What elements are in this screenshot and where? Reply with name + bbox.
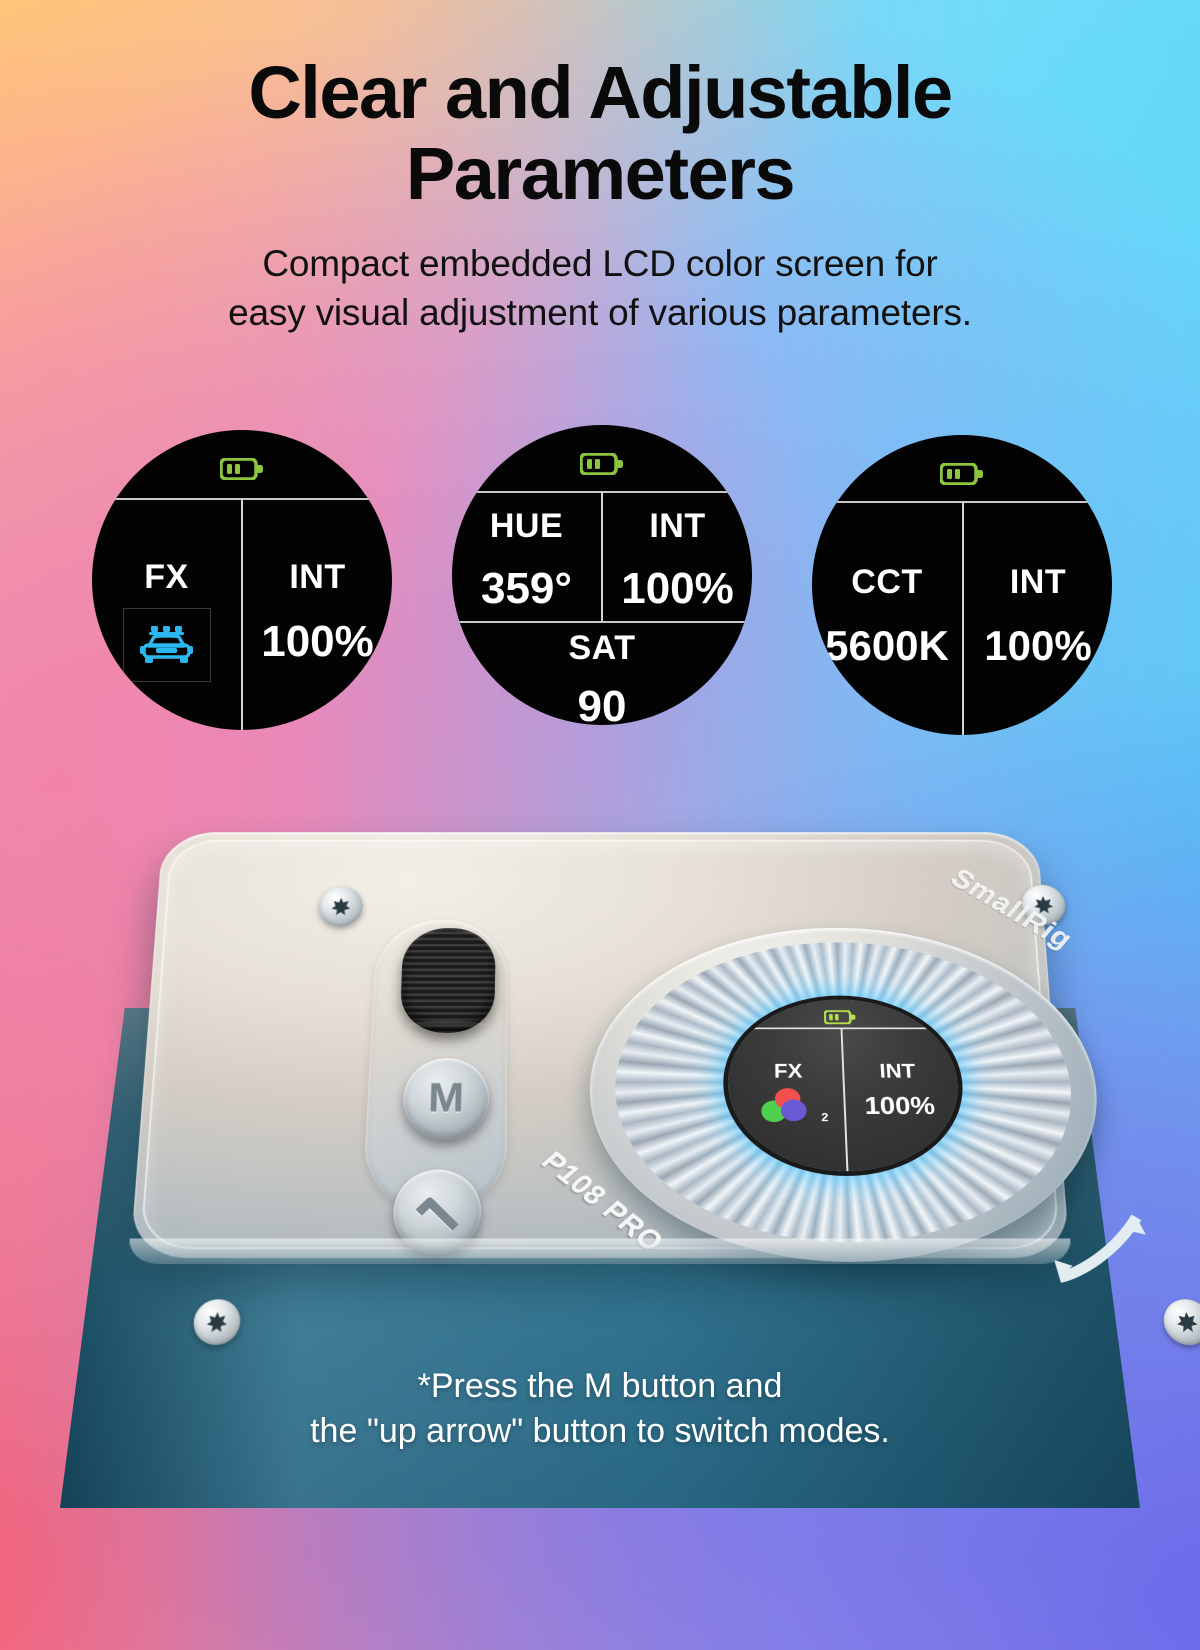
screen-hsi-hue-value: 359° — [452, 567, 601, 611]
screen-cct-left-label: CCT — [812, 565, 962, 599]
screen-preview-cct: CCT 5600K INT 100% — [812, 435, 1112, 735]
battery-icon — [824, 1010, 857, 1028]
footer-caption-line1: *Press the M button and — [0, 1364, 1200, 1409]
page-subtitle-line1: Compact embedded LCD color screen for — [0, 240, 1200, 289]
police-car-icon — [123, 608, 211, 682]
screen-preview-fx: FX INT 100% — [92, 430, 392, 730]
page-title-line1: Clear and Adjustable — [0, 53, 1200, 134]
screen-cct-right-value: 100% — [964, 625, 1112, 667]
device-screen-int-label: INT — [844, 1061, 952, 1081]
screw-top-left — [318, 887, 363, 927]
device-top-plate: M FX — [130, 832, 1070, 1258]
rotation-arrow-icon — [1044, 1202, 1172, 1300]
scroll-dial[interactable] — [400, 928, 496, 1033]
screen-hsi-int-value: 100% — [603, 567, 752, 611]
header-block: Clear and Adjustable Parameters Compact … — [0, 0, 1200, 338]
footer-caption: *Press the M button and the "up arrow" b… — [0, 1364, 1200, 1454]
rgb-circles-icon: 2 — [761, 1088, 817, 1124]
page-subtitle: Compact embedded LCD color screen for ea… — [0, 214, 1200, 338]
screen-fx-right-label: INT — [243, 560, 392, 594]
screw-bottom-right — [1162, 1299, 1200, 1345]
screen-hsi-sat-label: SAT — [452, 631, 752, 665]
screen-examples-row: FX INT 100% — [0, 418, 1200, 748]
device-screen-int-value: 100% — [845, 1093, 955, 1118]
screen-cct-left-value: 5600K — [812, 625, 962, 667]
up-arrow-button[interactable] — [392, 1170, 482, 1254]
screen-hsi-int-label: INT — [603, 509, 752, 543]
page-title-line2: Parameters — [0, 134, 1200, 215]
chevron-up-icon — [416, 1196, 459, 1238]
battery-icon — [580, 453, 624, 475]
screen-fx-left-label: FX — [92, 560, 241, 594]
page-subtitle-line2: easy visual adjustment of various parame… — [0, 289, 1200, 338]
screen-fx-right-value: 100% — [243, 620, 392, 664]
device-screen-fx-label: FX — [736, 1061, 841, 1081]
screen-cct-right-label: INT — [964, 565, 1112, 599]
screen-preview-hsi: HUE 359° INT 100% SAT 90 — [452, 425, 752, 725]
battery-icon — [220, 458, 264, 480]
battery-icon — [940, 463, 984, 485]
mode-button-label: M — [428, 1076, 465, 1122]
footer-caption-line2: the "up arrow" button to switch modes. — [0, 1409, 1200, 1454]
screen-hsi-hue-label: HUE — [452, 509, 601, 543]
screen-hsi-sat-value: 90 — [452, 685, 752, 725]
page-title: Clear and Adjustable Parameters — [0, 0, 1200, 214]
fx-preset-number: 2 — [821, 1110, 829, 1124]
lens-assembly: FX 2 INT 100% — [577, 928, 1124, 1262]
